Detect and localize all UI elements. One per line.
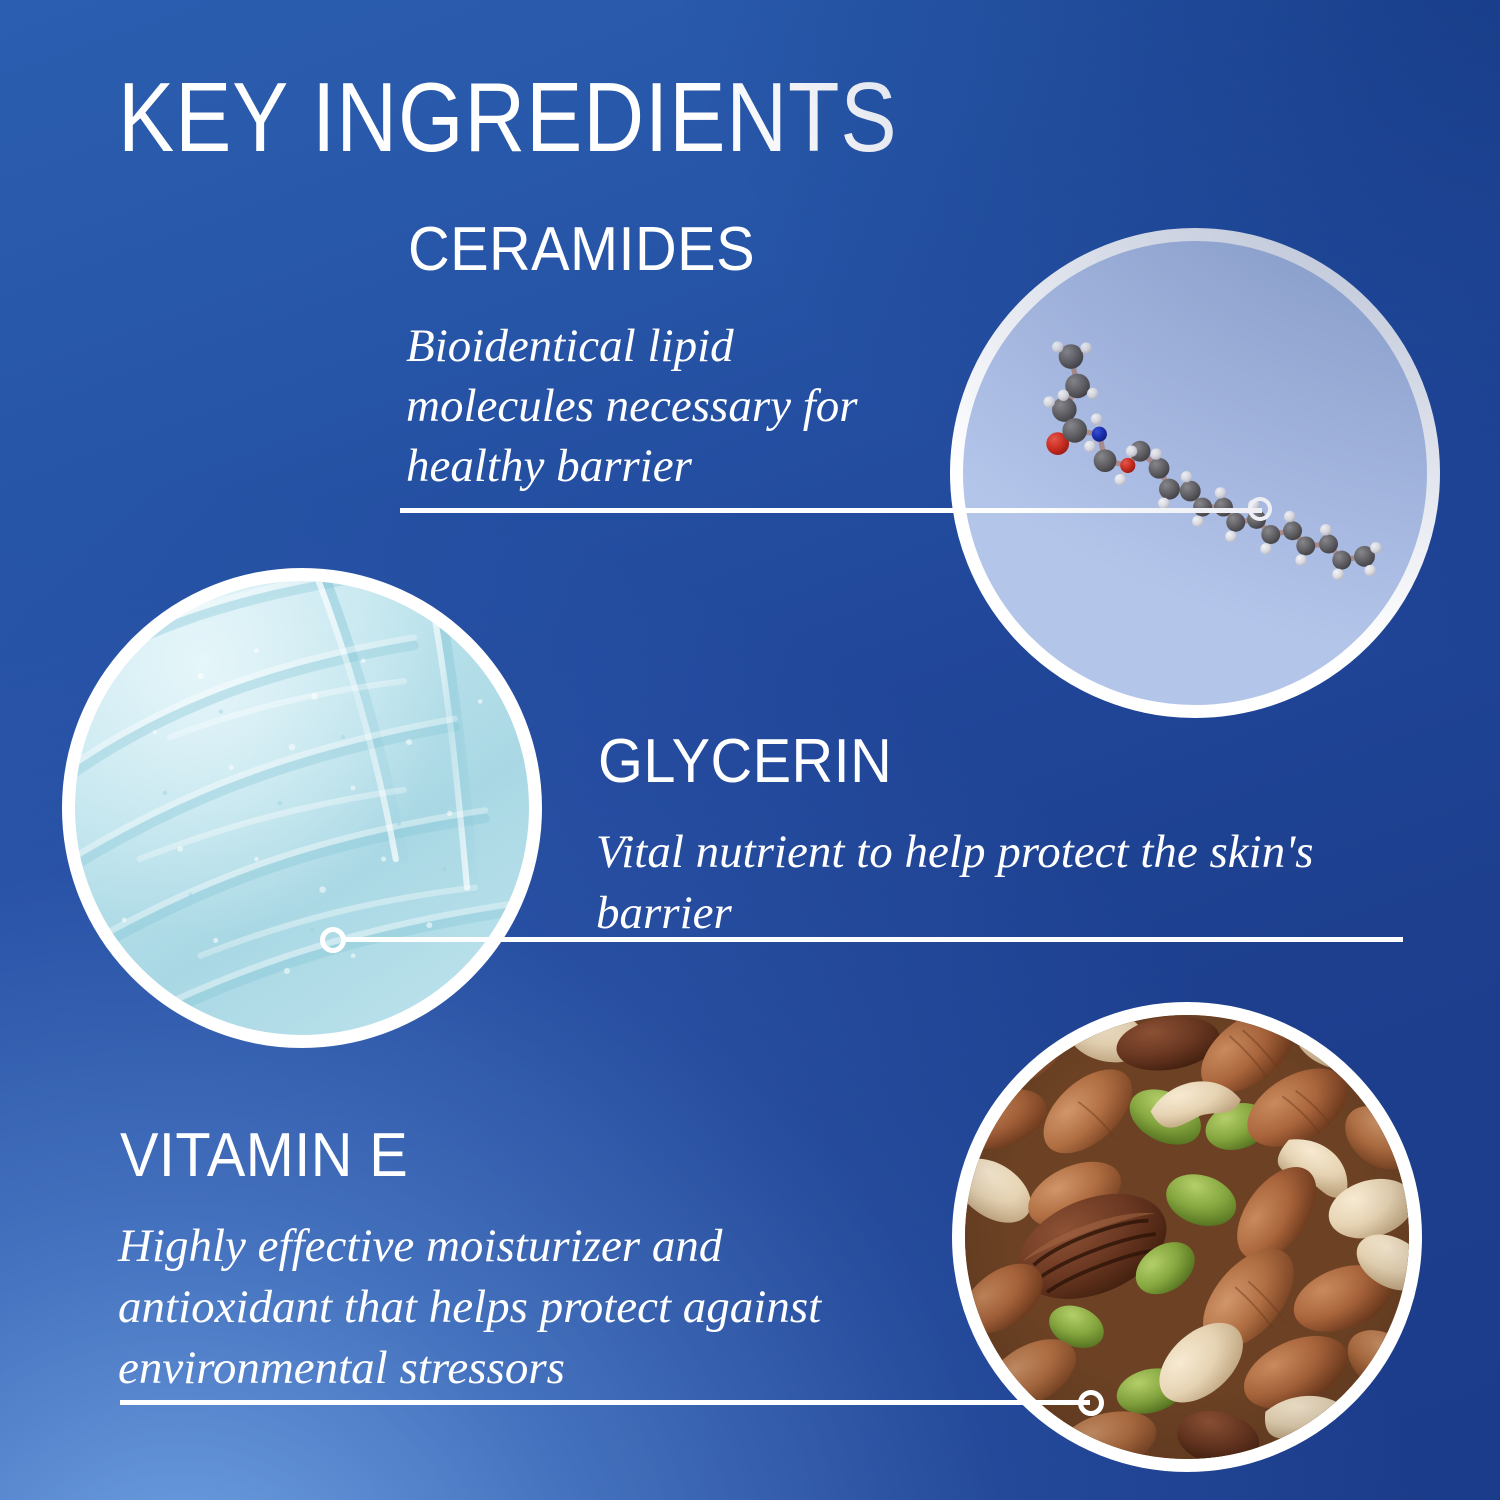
ingredient-description-vitamin-e: Highly effective moisturizer and antioxi…: [118, 1216, 908, 1399]
ingredient-name-vitamin-e: VITAMIN E: [120, 1120, 408, 1191]
glycerin-connector-marker: [320, 927, 346, 953]
key-ingredients-poster: KEY INGREDIENTS: [0, 0, 1500, 1500]
ceramides-connector-line: [400, 508, 1262, 513]
ceramide-molecule-model-icon: [963, 241, 1427, 705]
glycerin-image-circle: [62, 568, 542, 1048]
ingredient-name-ceramides: CERAMIDES: [408, 214, 755, 285]
ingredient-description-ceramides: Bioidentical lipid molecules necessary f…: [406, 316, 926, 496]
ingredient-name-glycerin: GLYCERIN: [598, 726, 892, 797]
page-title: KEY INGREDIENTS: [118, 68, 897, 166]
mixed-nuts-photo: [965, 1015, 1409, 1459]
ceramides-image-circle: [950, 228, 1440, 718]
vitamin-e-connector-line: [120, 1400, 1090, 1405]
ingredient-description-glycerin: Vital nutrient to help protect the skin'…: [596, 822, 1336, 944]
ceramides-connector-marker: [1248, 497, 1272, 521]
gel-texture-swirls: [62, 568, 542, 1048]
vitamin-e-connector-marker: [1078, 1390, 1104, 1416]
